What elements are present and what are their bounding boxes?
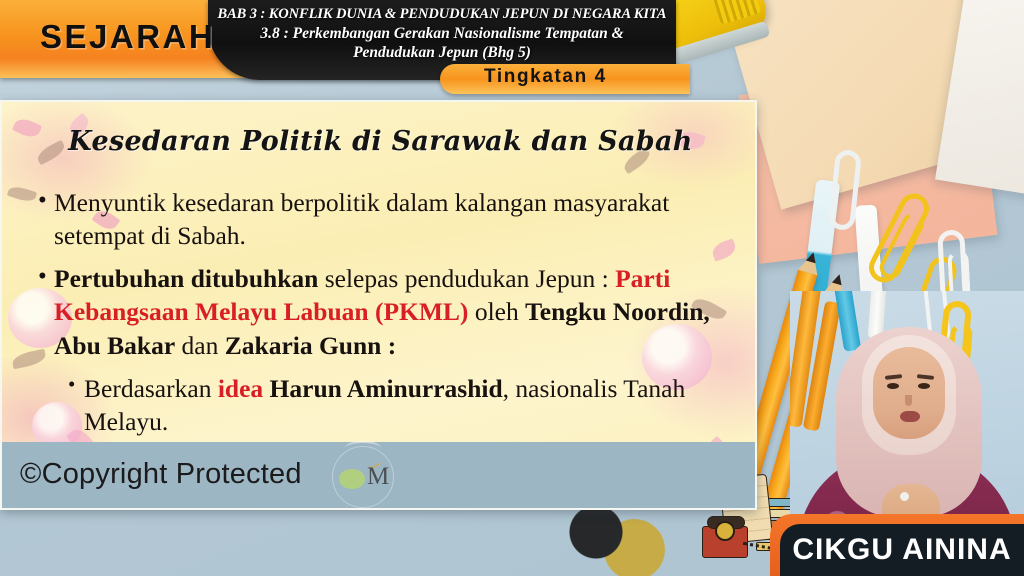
- slide-bullet-paragraph: •Berdasarkan idea Harun Aminurrashid, na…: [36, 372, 726, 438]
- slide-bullet-paragraph: •Menyuntik kesedaran berpolitik dalam ka…: [36, 186, 726, 252]
- presenter-name-label: CIKGU AININA: [780, 524, 1024, 576]
- text-run-bold: Pertubuhan ditubuhkan: [54, 264, 318, 293]
- presenter-eye: [918, 383, 930, 389]
- subject-logo: SEJARAH: [40, 18, 215, 56]
- text-run-normal: oleh: [468, 297, 525, 326]
- chapter-line-1: BAB 3 : KONFLIK DUNIA & PENDUDUKAN JEPUN…: [216, 6, 668, 23]
- text-run-bold: Harun Aminurrashid: [270, 374, 503, 403]
- bullet-marker: •: [38, 261, 47, 294]
- bullet-marker: •: [68, 371, 75, 398]
- copyright-bar: ©Copyright Protected ✓ M: [2, 442, 757, 508]
- text-run-normal: Berdasarkan: [84, 374, 218, 403]
- watermark-logo: ✓ M: [332, 446, 394, 508]
- text-run-normal: dan: [175, 331, 225, 360]
- leaf-decoration: [7, 184, 37, 204]
- presenter-nose: [905, 395, 912, 406]
- text-run-bold: Zakaria Gunn :: [225, 331, 396, 360]
- lesson-header-banner: SEJARAH BAB 3 : KONFLIK DUNIA & PENDUDUK…: [0, 0, 690, 96]
- copyright-text: ©Copyright Protected: [20, 458, 302, 491]
- slide-title: Kesedaran Politik di Sarawak dan Sabah: [2, 126, 757, 157]
- slide-body-content: •Menyuntik kesedaran berpolitik dalam ka…: [36, 186, 726, 448]
- form-level-label: Tingkatan 4: [484, 66, 607, 88]
- lesson-slide: Kesedaran Politik di Sarawak dan Sabah •…: [0, 100, 757, 510]
- globe-swirl-decoration: [560, 500, 680, 576]
- bullet-marker: •: [38, 185, 47, 218]
- slide-bullet-paragraph: •Pertubuhan ditubuhkan selepas penduduka…: [36, 262, 726, 361]
- presenter-eye: [887, 383, 899, 389]
- presenter-mouth: [900, 411, 920, 422]
- chapter-title-block: BAB 3 : KONFLIK DUNIA & PENDUDUKAN JEPUN…: [216, 6, 668, 62]
- presenter-name-badge: CIKGU AININA: [770, 514, 1024, 576]
- watermark-letter: M: [367, 463, 389, 491]
- text-run-red: idea: [218, 374, 263, 403]
- stapler-ridges: [710, 0, 762, 25]
- chapter-line-3: Pendudukan Jepun (Bhg 5): [216, 44, 668, 62]
- watermark-leaf-icon: [339, 469, 365, 489]
- vintage-telephone-icon: [702, 526, 748, 558]
- presenter-face: [873, 347, 945, 439]
- text-run-normal: Menyuntik kesedaran berpolitik dalam kal…: [54, 188, 669, 250]
- text-run-normal: selepas pendudukan Jepun :: [318, 264, 615, 293]
- chapter-line-2: 3.8 : Perkembangan Gerakan Nasionalisme …: [216, 25, 668, 43]
